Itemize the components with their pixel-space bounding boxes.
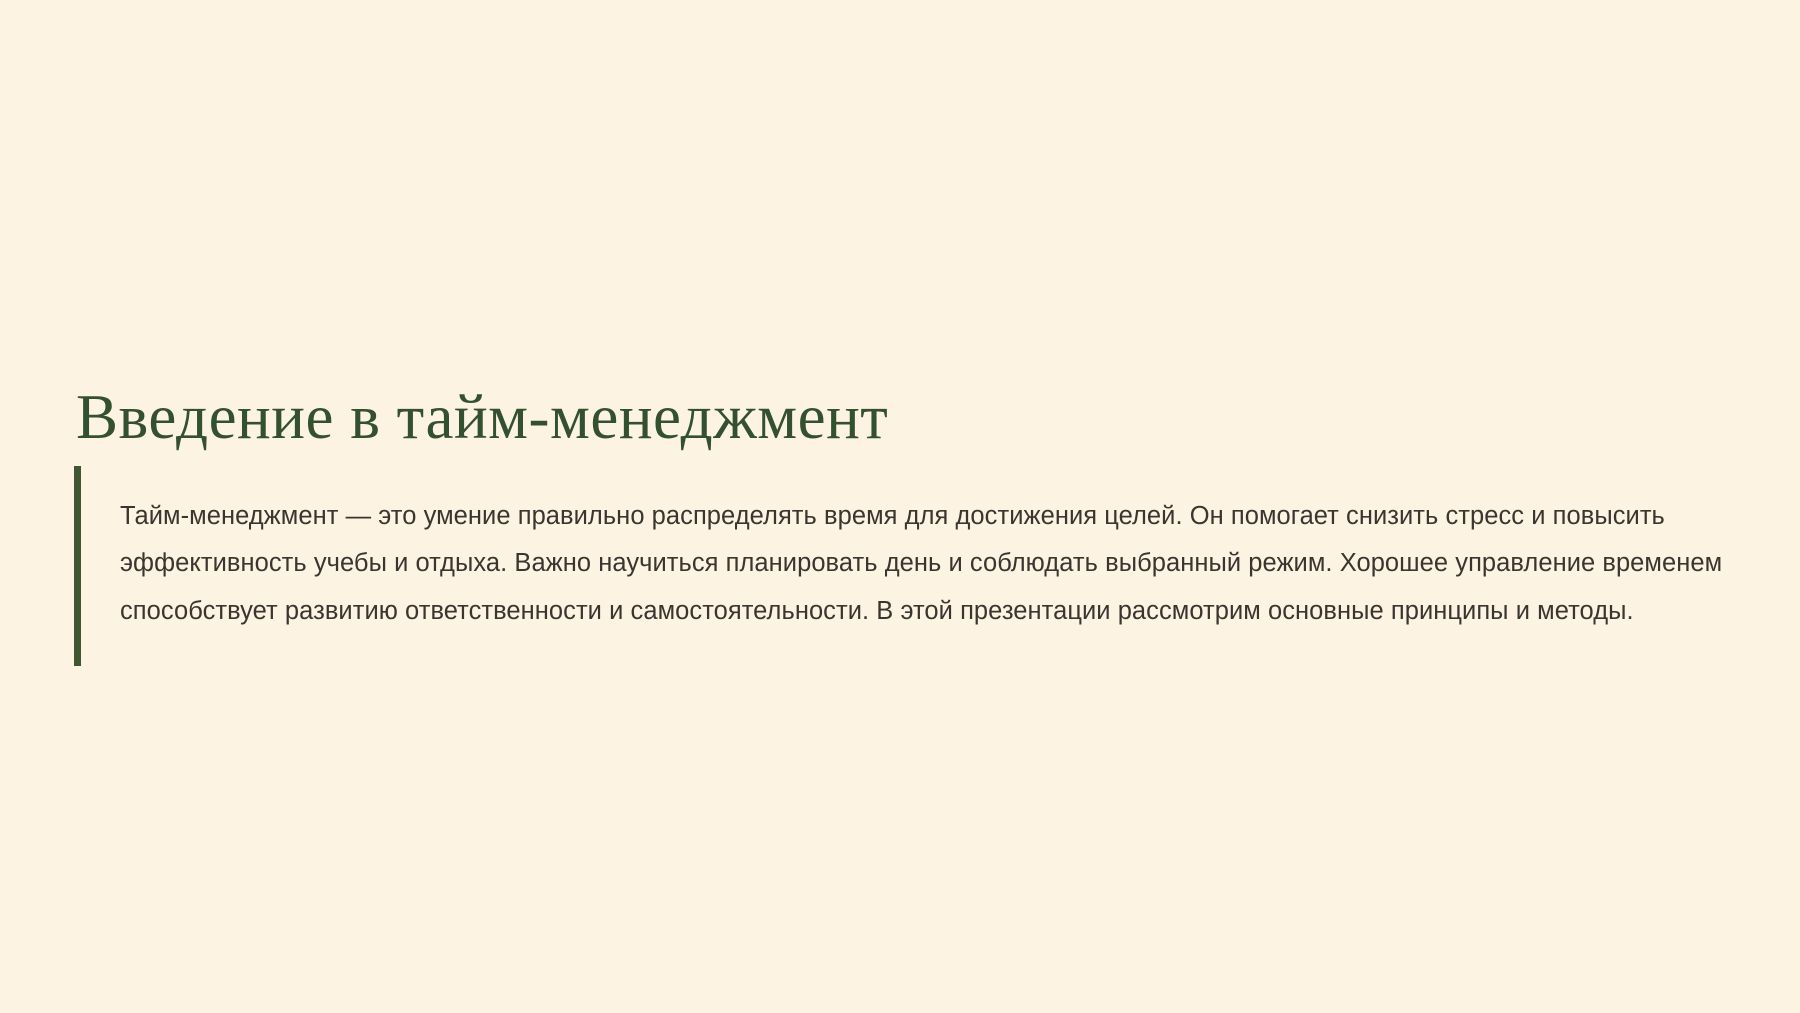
accent-bar <box>74 466 81 666</box>
page-title: Введение в тайм-менеджмент <box>76 383 888 451</box>
presentation-slide: Введение в тайм-менеджмент Тайм-менеджме… <box>0 0 1800 1013</box>
body-paragraph: Тайм-менеджмент — это умение правильно р… <box>120 492 1734 641</box>
body-quote-block: Тайм-менеджмент — это умение правильно р… <box>74 466 1734 666</box>
